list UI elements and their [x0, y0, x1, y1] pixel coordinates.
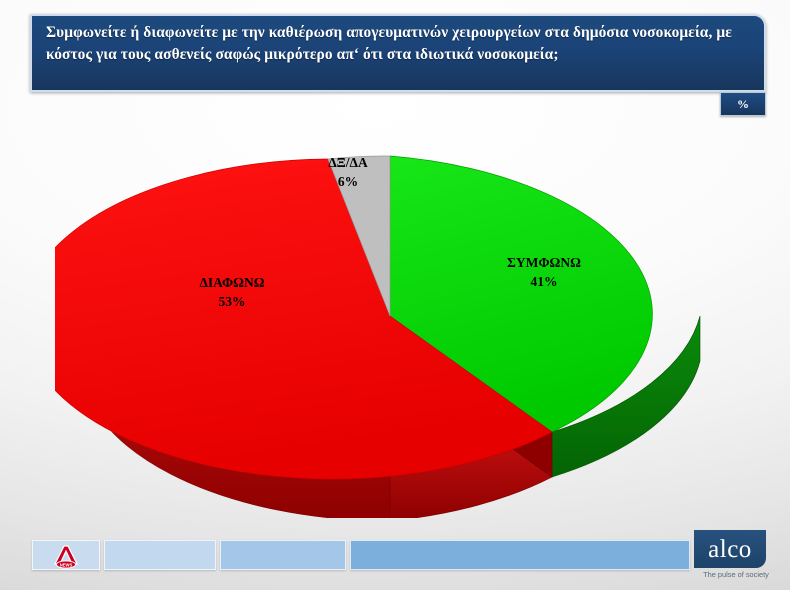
slice-label-dxda: ΔΞ/ΔΑ — [328, 155, 368, 170]
slice-value-symfono: 41% — [531, 274, 558, 289]
pie-chart-svg: ΣΥΜΦΩΝΩ 41% ΔΙΑΦΩΝΩ 53% ΔΞ/ΔΑ 6% — [55, 118, 735, 518]
percent-unit-badge: % — [720, 92, 766, 116]
page-title: Συμφωνείτε ή διαφωνείτε με την καθιέρωση… — [46, 22, 752, 67]
footer-segment-2 — [104, 540, 216, 570]
footer-segment-3 — [220, 540, 346, 570]
percent-unit-label: % — [737, 97, 749, 112]
slice-label-diafono: ΔΙΑΦΩΝΩ — [199, 275, 264, 290]
question-title-bar: Συμφωνείτε ή διαφωνείτε με την καθιέρωση… — [30, 14, 766, 92]
news-word: NEWS — [60, 562, 73, 567]
slice-value-diafono: 53% — [219, 294, 246, 309]
alco-logo: alco — [694, 530, 766, 568]
alco-tagline: The pulse of society — [694, 570, 778, 579]
alco-logo-text: alco — [708, 537, 752, 562]
slice-value-dxda: 6% — [338, 174, 358, 189]
slice-label-symfono: ΣΥΜΦΩΝΩ — [507, 255, 581, 270]
alpha-news-logo-icon: NEWS — [46, 544, 86, 569]
poll-result-slide: Συμφωνείτε ή διαφωνείτε με την καθιέρωση… — [0, 0, 790, 590]
pie-chart: ΣΥΜΦΩΝΩ 41% ΔΙΑΦΩΝΩ 53% ΔΞ/ΔΑ 6% — [55, 118, 735, 518]
footer-bar: NEWS — [0, 528, 790, 590]
footer-segment-4 — [350, 540, 690, 570]
